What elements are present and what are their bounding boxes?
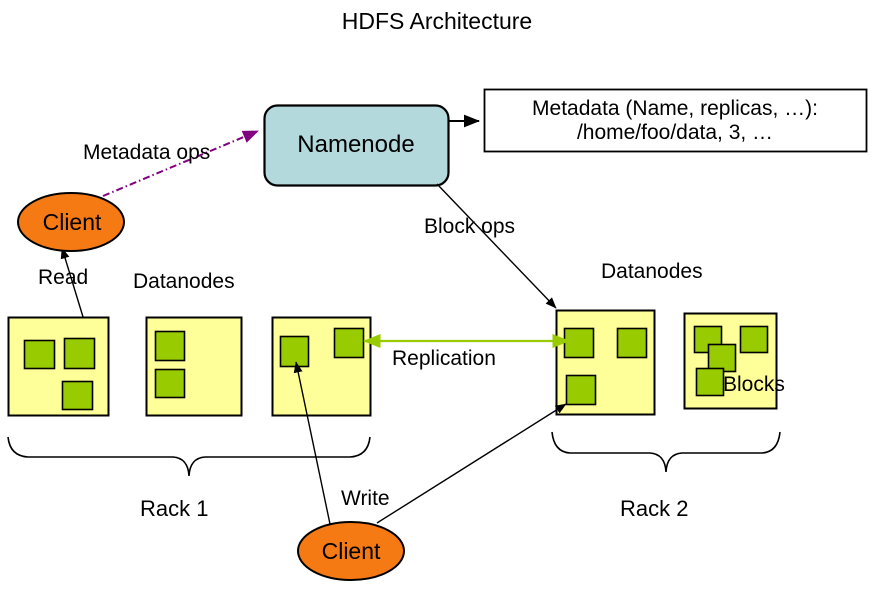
block — [741, 327, 768, 353]
block — [567, 376, 596, 405]
rack-1-label: Rack 1 — [140, 498, 208, 520]
metadata-line-2: /home/foo/data, 3, … — [577, 121, 773, 145]
metadata-box-text: Metadata (Name, replicas, …): /home/foo/… — [484, 90, 866, 152]
replication-label: Replication — [392, 348, 496, 369]
client-bottom-label: Client — [299, 522, 403, 580]
datanodes-right-label: Datanodes — [601, 261, 703, 282]
block — [65, 339, 95, 369]
rack2-datanode-1[interactable] — [557, 311, 655, 415]
block — [709, 345, 736, 372]
block — [156, 332, 185, 361]
write-label: Write — [341, 488, 390, 509]
block — [156, 370, 185, 398]
client-top-label: Client — [20, 193, 124, 251]
block — [335, 329, 364, 358]
block-ops-arrow — [437, 184, 556, 308]
block — [63, 382, 93, 410]
block — [697, 369, 724, 396]
metadata-ops-label: Metadata ops — [83, 142, 210, 163]
metadata-line-1: Metadata (Name, replicas, …): — [532, 97, 818, 121]
blocks-label: Blocks — [723, 374, 785, 395]
rack1-brace — [8, 437, 370, 476]
rack-2-label: Rack 2 — [620, 498, 688, 520]
namenode-label: Namenode — [264, 105, 448, 185]
block — [281, 337, 309, 367]
block — [618, 329, 647, 358]
block — [25, 341, 55, 369]
read-label: Read — [38, 267, 88, 288]
rack2-brace — [552, 432, 780, 472]
rack1-datanode-3[interactable] — [273, 318, 371, 416]
datanodes-left-label: Datanodes — [133, 271, 235, 292]
hdfs-architecture-diagram: HDFS Architecture — [0, 0, 874, 604]
rack1-datanode-2[interactable] — [147, 318, 242, 416]
block-ops-label: Block ops — [424, 216, 515, 237]
block — [565, 329, 594, 358]
rack1-datanode-1[interactable] — [9, 318, 109, 416]
client-to-rack2-arrow — [377, 404, 566, 523]
